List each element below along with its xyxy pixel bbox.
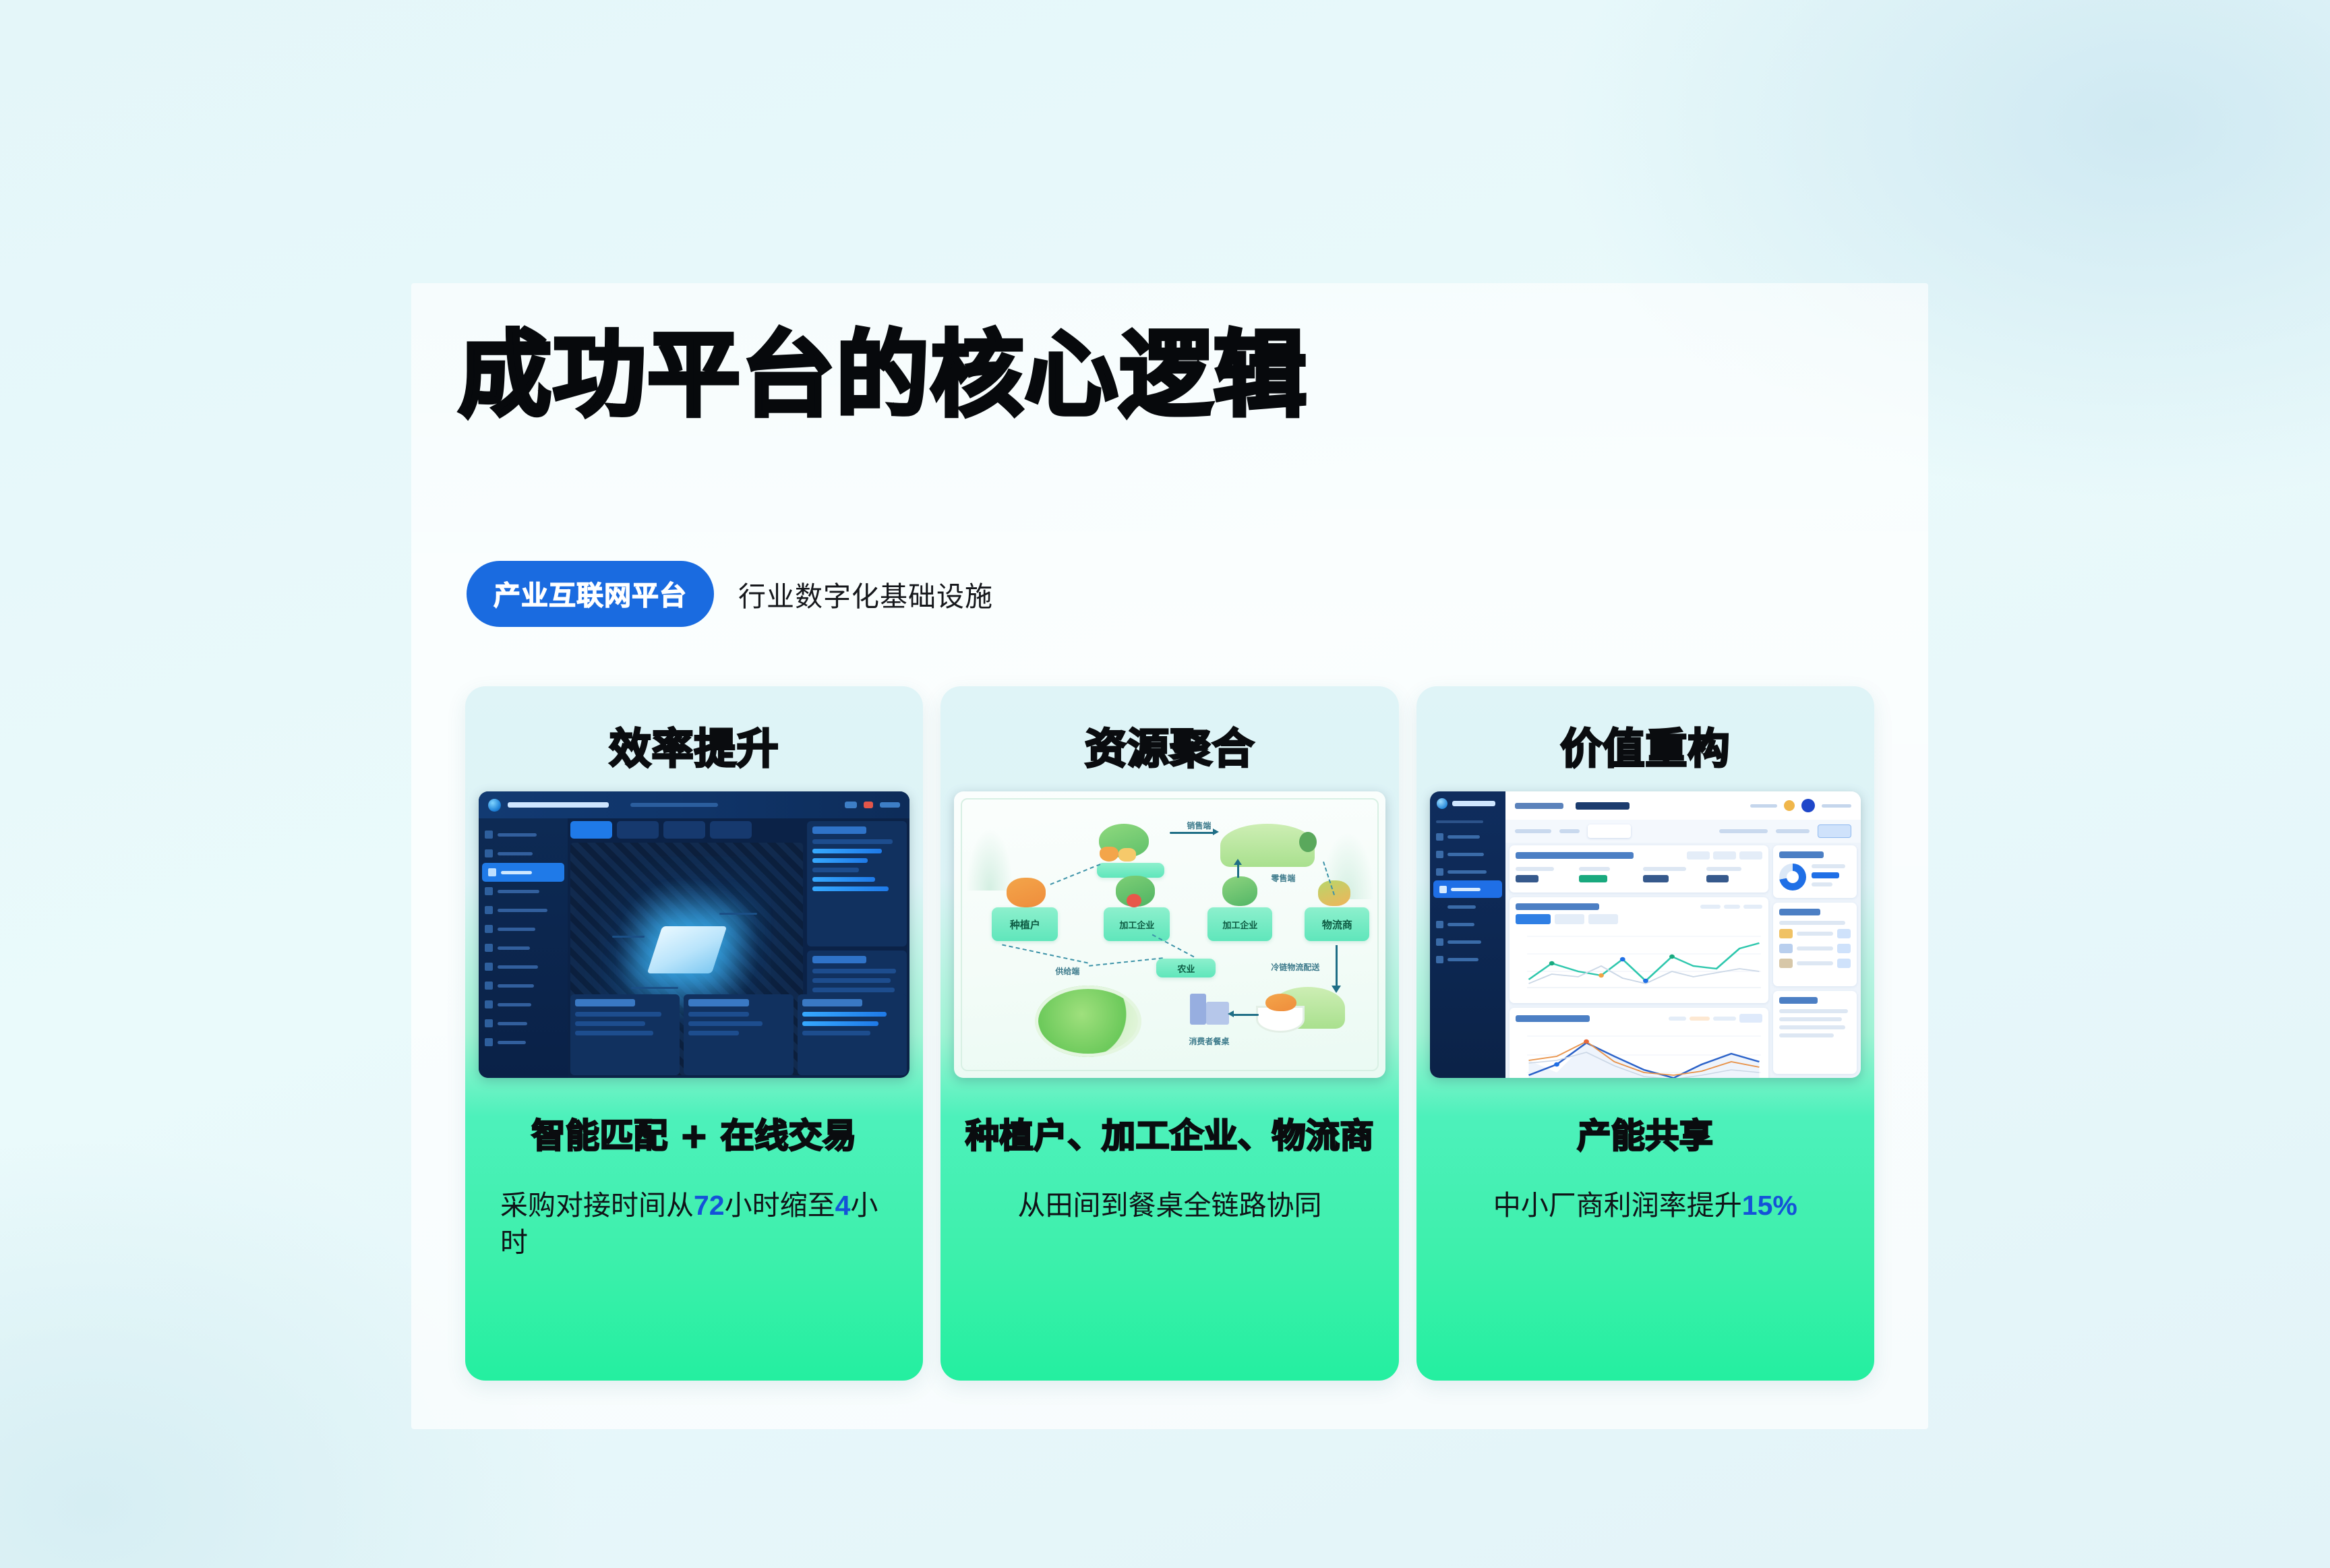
- list-item: [1779, 921, 1845, 925]
- desc-text: 中小厂商利润率提升: [1493, 1190, 1742, 1221]
- sidebar-item-label: [498, 890, 539, 893]
- teal-line-chart: [1516, 924, 1762, 997]
- panel-row: [575, 1012, 661, 1017]
- panel-row: [812, 886, 888, 891]
- bell-icon[interactable]: [845, 802, 857, 808]
- arrow-head: [1234, 859, 1242, 865]
- breadcrumb: [1515, 803, 1563, 809]
- chip-filter[interactable]: [1687, 851, 1710, 860]
- tab-item-active[interactable]: [1588, 824, 1631, 838]
- sidebar-item[interactable]: [479, 825, 568, 844]
- list-panel: [798, 994, 907, 1075]
- tab-item[interactable]: [663, 821, 705, 839]
- page-title-placeholder: [1576, 802, 1630, 810]
- legend-row: [1812, 882, 1832, 886]
- ranking-list-card: [1773, 903, 1857, 986]
- thumb-icon: [1779, 944, 1793, 953]
- panel-row: [575, 1031, 653, 1035]
- menu-icon: [485, 831, 493, 839]
- list-item-value: [1837, 944, 1851, 953]
- chip-filter[interactable]: [1739, 851, 1762, 860]
- chart-action[interactable]: [1739, 1014, 1762, 1023]
- grid-panel: [684, 994, 793, 1075]
- menu-icon: [1436, 868, 1443, 876]
- panel-row: [812, 858, 868, 863]
- card-thumbnail-dark-dashboard: [479, 791, 909, 1078]
- list-item: [802, 1031, 870, 1035]
- sidebar-item[interactable]: [479, 901, 568, 919]
- menu-icon: [485, 849, 493, 857]
- vegetable-icon: [1265, 994, 1296, 1011]
- card-title: 资源聚合: [940, 686, 1398, 782]
- chart-toggle-active[interactable]: [1516, 914, 1551, 924]
- blue-area-chart: [1516, 1023, 1762, 1078]
- menu-icon: [485, 1000, 493, 1008]
- sidebar-item[interactable]: [479, 957, 568, 976]
- menu-icon: [485, 963, 493, 971]
- vegetable-icon: [1007, 878, 1046, 907]
- arrow-label: 消费者餐桌: [1189, 1035, 1229, 1047]
- list-item-label: [1797, 961, 1833, 965]
- panel-row: [812, 868, 859, 872]
- card-title: 效率提升: [465, 686, 923, 782]
- panel-row: [688, 1012, 748, 1017]
- panel-title: [1516, 1015, 1590, 1022]
- sidebar-item-label: [498, 1022, 527, 1025]
- legend-row: [1812, 864, 1845, 868]
- sidebar-item-label: [1451, 888, 1481, 891]
- kpi-label: [1579, 867, 1610, 871]
- panel-title: [688, 999, 748, 1006]
- avatar[interactable]: [1784, 800, 1795, 811]
- primary-action-button[interactable]: [1818, 824, 1851, 838]
- list-item-label: [1797, 932, 1833, 936]
- sidebar-item[interactable]: [1430, 828, 1505, 845]
- menu-icon: [488, 868, 496, 876]
- list-item-label: [1797, 946, 1833, 951]
- desc-highlight: 72: [694, 1190, 725, 1221]
- bg-plant-decor: [966, 828, 1013, 891]
- arrow-head: [1228, 1011, 1234, 1017]
- feature-card[interactable]: 资源聚合 销售端 零售端 种植户 加工企业 加工企: [940, 686, 1398, 1381]
- breadcrumb-placeholder: [630, 803, 718, 807]
- sidebar-item[interactable]: [479, 1014, 568, 1033]
- avatar[interactable]: [1801, 799, 1815, 812]
- sidebar-item[interactable]: [1430, 863, 1505, 880]
- chart-legend-item: [1690, 1017, 1710, 1021]
- stats-panel: [807, 821, 907, 946]
- kpi-item: [1579, 867, 1635, 886]
- panel-title: [1516, 852, 1634, 859]
- sidebar-item-label: [1447, 853, 1484, 856]
- thumb-icon: [1779, 959, 1793, 968]
- page-subtitle: 行业数字化基础设施: [738, 574, 993, 614]
- kpi-card: [1510, 845, 1768, 893]
- arrow-label: 冷链物流配送: [1271, 961, 1319, 973]
- panel-row: [812, 877, 874, 882]
- sidebar-item-label: [1447, 835, 1480, 839]
- alert-icon[interactable]: [864, 802, 873, 808]
- app-logo-icon: [1437, 798, 1447, 809]
- menu-icon: [485, 944, 493, 952]
- panel-row: [688, 1021, 763, 1026]
- filter-label[interactable]: [1776, 829, 1810, 833]
- panel-title: [812, 826, 866, 834]
- panel-row: [812, 839, 893, 844]
- card-thumbnail-analytics-dashboard: [1430, 791, 1861, 1078]
- menu-icon: [1436, 938, 1443, 946]
- list-item-value: [1837, 959, 1851, 968]
- menu-icon: [485, 906, 493, 914]
- chart-legend-item: [1724, 905, 1740, 909]
- vegetable-icon: [1222, 876, 1257, 906]
- chip-filter[interactable]: [1713, 851, 1736, 860]
- chart-legend-item: [1743, 905, 1762, 909]
- menu-icon: [485, 925, 493, 933]
- sidebar-item-label: [498, 909, 547, 912]
- salad-plate-icon: [1035, 986, 1141, 1057]
- status-badge: 产业互联网平台: [467, 561, 714, 627]
- detail-panel: [570, 994, 680, 1075]
- sidebar-item[interactable]: [479, 976, 568, 995]
- card-heading: 智能匹配 + 在线交易: [465, 1109, 923, 1157]
- desc-text: 采购对接时间从: [500, 1190, 694, 1221]
- arrow-head: [1213, 828, 1219, 835]
- menu-icon: [1439, 886, 1447, 893]
- menu-icon: [485, 1019, 493, 1027]
- line-chart-card-blue: [1510, 1008, 1768, 1078]
- sidebar-item-active[interactable]: [1433, 880, 1502, 898]
- arrow-label: 供给端: [1055, 965, 1079, 977]
- feature-card[interactable]: 效率提升: [465, 686, 923, 1381]
- table-row: [1779, 1033, 1834, 1037]
- desc-highlight: 4: [835, 1190, 851, 1221]
- diagram-node-processor: 加工企业: [1104, 907, 1170, 941]
- table-row: [812, 969, 896, 973]
- chart-legend-item: [1700, 905, 1721, 909]
- tab-item[interactable]: [710, 821, 752, 839]
- pumpkin-icon: [1118, 848, 1136, 862]
- sidebar-item-label: [498, 833, 537, 837]
- sidebar-item-label: [1447, 870, 1487, 874]
- flow-arrow: [1170, 832, 1214, 834]
- panel-row: [688, 1031, 738, 1035]
- table-row: [1779, 1017, 1842, 1021]
- feature-card[interactable]: 价值重构: [1416, 686, 1874, 1381]
- user-menu[interactable]: [880, 802, 900, 808]
- flow-arrow: [1232, 1014, 1259, 1016]
- chip-die-icon: [647, 926, 727, 973]
- kpi-value: [1579, 875, 1607, 882]
- sidebar-subitem-label: [1447, 905, 1476, 909]
- panel-title: [1516, 903, 1600, 910]
- panel-row: [812, 849, 882, 853]
- summary-table-card: [1773, 991, 1857, 1075]
- menu-icon: [485, 1038, 493, 1046]
- chart-toggle[interactable]: [1555, 914, 1584, 924]
- sidebar-item[interactable]: [1430, 951, 1505, 968]
- kpi-label: [1706, 867, 1741, 871]
- toolbar-text: [1750, 804, 1777, 808]
- sidebar-item-label: [498, 1003, 531, 1006]
- sidebar-item[interactable]: [479, 919, 568, 938]
- sidebar-item[interactable]: [1430, 933, 1505, 951]
- sidebar-item[interactable]: [1430, 845, 1505, 863]
- sidebar-item-active[interactable]: [482, 863, 564, 882]
- dashboard-sidebar: [479, 818, 568, 1078]
- panel-title: [1779, 909, 1820, 915]
- page-title: 成功平台的核心逻辑: [458, 329, 1308, 422]
- legend-row: [1812, 872, 1839, 878]
- card-description: 从田间到餐桌全链路协同: [940, 1187, 1398, 1224]
- dashboard-topbar: [479, 791, 909, 818]
- flow-arrow-vertical: [1237, 864, 1239, 878]
- kpi-item: [1706, 867, 1762, 886]
- dashboard-bottom-row: [570, 994, 907, 1075]
- main-column: [1510, 845, 1768, 1074]
- menu-icon: [1436, 851, 1443, 858]
- sidebar-item-label: [498, 946, 530, 950]
- menu-icon: [1436, 921, 1443, 928]
- diagram-node-logistics: 物流商: [1305, 907, 1369, 941]
- user-name: [1822, 804, 1851, 808]
- sidebar-item-label: [498, 984, 534, 988]
- sidebar-item[interactable]: [479, 882, 568, 901]
- dashboard-sidebar: [1430, 791, 1505, 1078]
- kpi-label: [1643, 867, 1686, 871]
- table-row: [812, 978, 891, 983]
- sidebar-item[interactable]: [1430, 915, 1505, 933]
- panel-title: [575, 999, 635, 1006]
- list-item: [802, 1012, 887, 1017]
- menu-icon: [485, 982, 493, 990]
- dashboard-body: [1510, 845, 1857, 1074]
- panel-row: [575, 1021, 645, 1026]
- table-row: [1779, 1025, 1845, 1029]
- sidebar-item[interactable]: [479, 938, 568, 957]
- kpi-item: [1643, 867, 1699, 886]
- card-description: 采购对接时间从72小时缩至4小时: [465, 1187, 923, 1261]
- panel-title: [1779, 851, 1824, 858]
- menu-icon: [1436, 833, 1443, 841]
- diagram-node-enterprise: 加工企业: [1207, 907, 1272, 941]
- kpi-value: [1706, 875, 1729, 882]
- sidebar-group-label: [1436, 820, 1483, 823]
- arrow-label: 销售端: [1187, 820, 1211, 831]
- line-chart-card-teal: [1510, 897, 1768, 1003]
- panel-title: [1779, 997, 1818, 1004]
- side-column: [1773, 845, 1857, 1074]
- table-row: [812, 988, 894, 992]
- app-logo-icon: [488, 799, 501, 812]
- sidebar-item-label: [498, 852, 533, 855]
- desc-highlight: 15%: [1742, 1190, 1797, 1221]
- flow-arrow-vertical: [1336, 945, 1338, 987]
- panel-title: [802, 999, 862, 1006]
- tab-item[interactable]: [1515, 829, 1551, 833]
- tab-item[interactable]: [617, 821, 659, 839]
- sidebar-item-label: [1447, 940, 1481, 944]
- list-item-value: [1837, 929, 1851, 938]
- arrow-label: 零售端: [1271, 872, 1295, 884]
- card-description: 中小厂商利润率提升15%: [1416, 1187, 1874, 1224]
- table-row: [1779, 1009, 1848, 1013]
- kpi-value: [1516, 875, 1539, 882]
- card-heading: 产能共享: [1416, 1109, 1874, 1157]
- card-thumbnail-supply-chain: 销售端 零售端 种植户 加工企业 加工企业 物流商 供给端 农业: [954, 791, 1385, 1078]
- chart-legend-item: [1713, 1017, 1736, 1021]
- sidebar-item-label: [498, 1041, 526, 1044]
- app-name-placeholder: [1452, 801, 1495, 806]
- dashboard-topbar: [1505, 791, 1861, 820]
- thumb-icon: [1779, 929, 1793, 938]
- app-name-placeholder: [508, 802, 609, 808]
- chart-toggle[interactable]: [1588, 914, 1618, 924]
- sidebar-item-label: [501, 871, 532, 874]
- panel-title: [812, 956, 866, 963]
- feature-card-list: 效率提升: [465, 686, 1874, 1381]
- kpi-item: [1516, 867, 1572, 886]
- kpi-label: [1516, 867, 1555, 871]
- card-title: 价值重构: [1416, 686, 1874, 782]
- tab-item-active[interactable]: [570, 821, 612, 839]
- sidebar-item-label: [498, 965, 538, 969]
- kpi-value: [1643, 875, 1669, 882]
- donut-card: [1773, 845, 1857, 898]
- sidebar-item[interactable]: [479, 1033, 568, 1052]
- diagram-node-agri: 农业: [1156, 959, 1216, 977]
- factory-icon: [1206, 1002, 1229, 1025]
- diagram-node-grower: 种植户: [992, 907, 1058, 941]
- sidebar-item[interactable]: [479, 995, 568, 1014]
- sidebar-item[interactable]: [479, 844, 568, 863]
- app-brand: [1430, 791, 1505, 816]
- tab-bar: [570, 821, 803, 839]
- menu-icon: [1436, 956, 1443, 963]
- list-item: [802, 1021, 878, 1026]
- menu-icon: [485, 887, 493, 895]
- sidebar-item-label: [1447, 958, 1478, 961]
- tab-bar: [1505, 820, 1861, 843]
- sidebar-item-label: [498, 928, 535, 931]
- sidebar-item-label: [1447, 923, 1474, 926]
- tab-item[interactable]: [1559, 829, 1580, 833]
- subtitle-row: 产业互联网平台 行业数字化基础设施: [467, 561, 993, 627]
- card-heading: 种植户、加工企业、物流商: [940, 1109, 1398, 1157]
- donut-chart: [1779, 864, 1806, 891]
- desc-text: 从田间到餐桌全链路协同: [1017, 1190, 1321, 1221]
- sidebar-item[interactable]: [1430, 898, 1505, 915]
- desc-text: 小时缩至: [725, 1190, 835, 1221]
- chart-legend-item: [1669, 1017, 1686, 1021]
- factory-icon: [1190, 994, 1206, 1025]
- filter-label[interactable]: [1719, 829, 1768, 833]
